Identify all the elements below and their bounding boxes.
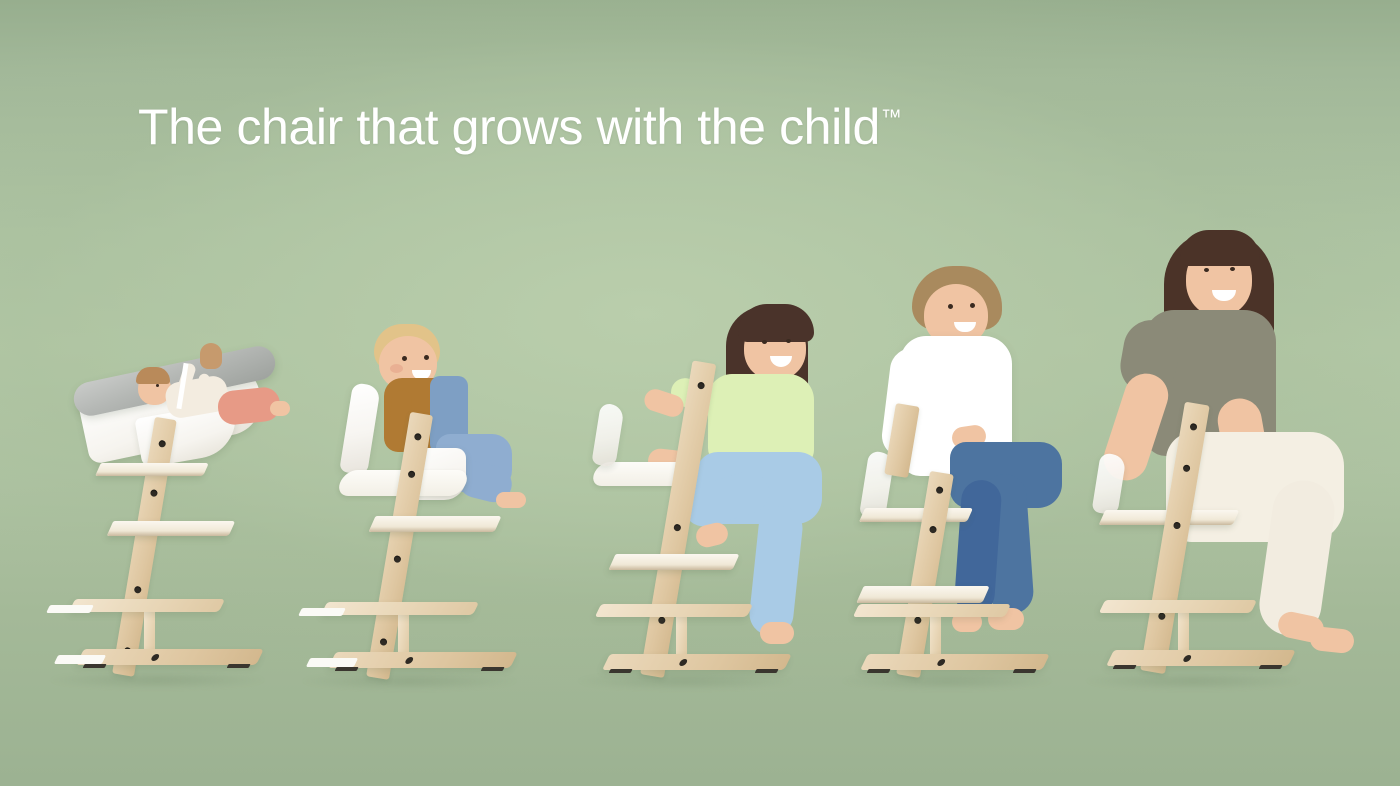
post-hole (1158, 612, 1166, 620)
boy-eye (970, 303, 975, 308)
base-brace (676, 612, 687, 656)
toddler-foot (496, 492, 526, 508)
baby-foot (270, 401, 290, 416)
toddler-blush (390, 364, 403, 373)
runner-foot (481, 667, 505, 671)
runner-hole (936, 659, 946, 666)
runner-foot (1259, 665, 1283, 669)
runner-foot (335, 667, 359, 671)
toddler-eye (402, 356, 407, 361)
base-brace (930, 612, 941, 656)
runner-foot (1013, 669, 1037, 673)
base-brace (1178, 608, 1189, 652)
girl-foot-2 (760, 622, 794, 644)
runner-foot (1113, 665, 1137, 669)
post-hole (1173, 522, 1181, 530)
glide-strip-2 (306, 658, 358, 667)
baby-toy (200, 343, 222, 369)
post-hole (149, 489, 157, 497)
post-hole (379, 638, 387, 646)
footrest-board (856, 586, 990, 603)
product-stage-child[interactable] (566, 292, 826, 690)
contact-shadow (578, 672, 793, 690)
baby-eye (156, 384, 159, 387)
post-hole (913, 616, 921, 624)
base-lower-runner (1106, 650, 1296, 666)
woman-eye (1230, 267, 1235, 271)
runner-hole (150, 654, 160, 661)
glide-strip-2 (54, 655, 106, 664)
base-upper-runner (853, 604, 1011, 617)
woman-foot-2 (1309, 626, 1355, 654)
runner-foot (755, 669, 779, 673)
girl-leg-lower (747, 504, 804, 638)
runner-hole (404, 657, 414, 664)
footrest-board (368, 516, 501, 532)
base-upper-runner (595, 604, 753, 617)
post-hole (935, 486, 943, 494)
runner-foot (867, 669, 891, 673)
seat-board (95, 463, 209, 476)
runner-foot (83, 664, 107, 668)
runner-hole (1182, 655, 1192, 662)
product-stage-older-child[interactable] (826, 256, 1076, 690)
woman-eye (1204, 268, 1209, 272)
post-hole (1183, 464, 1191, 472)
base-brace (398, 610, 409, 656)
occupant-baby (110, 365, 290, 460)
contact-shadow (50, 671, 265, 689)
contact-shadow (842, 672, 1052, 690)
post-hole (673, 524, 681, 532)
base-upper-runner (1099, 600, 1257, 613)
contact-shadow (302, 672, 517, 690)
base-brace (144, 608, 155, 654)
base-lower-runner (602, 654, 792, 670)
headline-text: The chair that grows with the child (138, 99, 880, 155)
occupant-woman (1098, 216, 1388, 666)
girl-eye (762, 340, 767, 344)
product-stage-toddler[interactable] (288, 322, 538, 687)
product-stage-newborn[interactable] (40, 355, 290, 685)
girl-eye (786, 339, 791, 343)
post-hole (657, 616, 665, 624)
post-hole (158, 440, 166, 448)
toddler-eye (424, 355, 429, 360)
page-title: The chair that grows with the child™ (138, 99, 902, 155)
baby-hair (136, 367, 170, 384)
glide-strip (298, 608, 346, 616)
footrest-board (107, 521, 236, 536)
runner-foot (227, 664, 251, 668)
glide-strip (46, 605, 94, 613)
post-hole (1189, 423, 1197, 431)
contact-shadow (1086, 672, 1301, 690)
footrest-board (608, 554, 739, 570)
post-hole (928, 526, 936, 534)
hero-banner: The chair that grows with the child™ (0, 0, 1400, 786)
runner-foot (609, 669, 633, 673)
post-hole (697, 382, 705, 390)
post-hole (414, 433, 422, 441)
post-hole (393, 555, 401, 563)
runner-hole (678, 659, 688, 666)
base-lower-runner (860, 654, 1050, 670)
seat-board (859, 508, 973, 522)
woman-hair-front (1180, 230, 1260, 266)
trademark-symbol: ™ (881, 106, 902, 129)
boy-eye (948, 304, 953, 309)
product-stage-adult[interactable] (1072, 216, 1372, 690)
girl-hair-front (738, 304, 814, 342)
post-hole (133, 586, 141, 594)
post-hole (408, 470, 416, 478)
